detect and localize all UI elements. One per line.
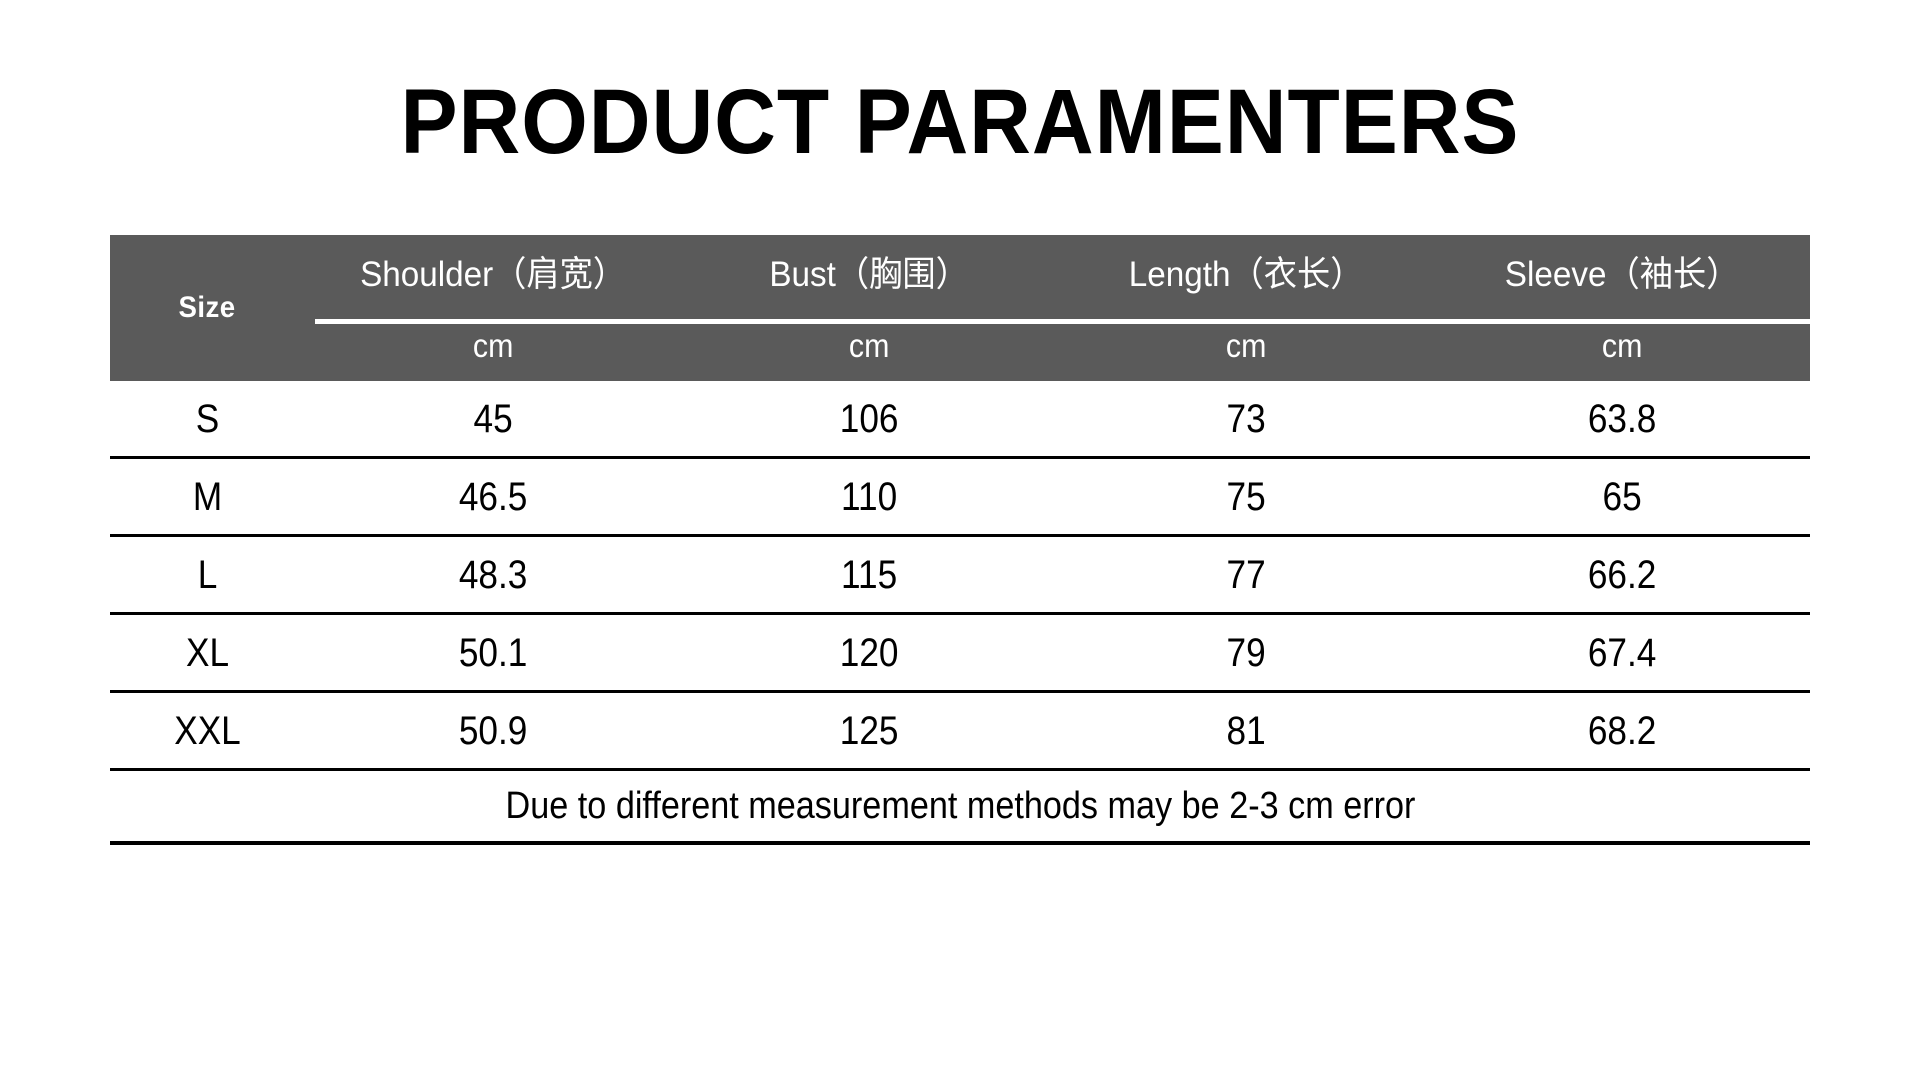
table-row: M 46.5 110 75 65 (110, 459, 1810, 537)
table-header-band: Size Shoulder（肩宽） cm Bust（胸围） cm Length（… (110, 235, 1810, 381)
cell-shoulder: 45 (328, 397, 659, 441)
header-label-shoulder: Shoulder（肩宽） (314, 235, 671, 319)
cell-sleeve: 63.8 (1456, 397, 1787, 441)
header-cell-size: Size (110, 235, 305, 381)
header-divider-rule (315, 319, 1810, 324)
cell-shoulder: 48.3 (328, 553, 659, 597)
header-label-sleeve: Sleeve（袖长） (1443, 235, 1800, 319)
cell-length: 79 (1080, 631, 1411, 675)
product-parameters-page: PRODUCT PARAMENTERS Size Shoulder（肩宽） cm… (0, 0, 1920, 1068)
size-header-label: Size (179, 291, 236, 325)
cell-bust: 125 (704, 709, 1035, 753)
cell-length: 81 (1080, 709, 1411, 753)
cell-shoulder: 50.9 (328, 709, 659, 753)
table-body: S 45 106 73 63.8 M 46.5 110 75 65 L 48.3… (110, 381, 1810, 845)
cell-length: 75 (1080, 475, 1411, 519)
table-row: XL 50.1 120 79 67.4 (110, 615, 1810, 693)
cell-bust: 110 (704, 475, 1035, 519)
header-cell-length: Length（衣长） cm (1058, 235, 1434, 381)
header-unit-shoulder: cm (320, 319, 666, 381)
cell-size: XL (122, 631, 294, 675)
cell-sleeve: 65 (1456, 475, 1787, 519)
cell-length: 73 (1080, 397, 1411, 441)
cell-bust: 115 (704, 553, 1035, 597)
header-cell-shoulder: Shoulder（肩宽） cm (305, 235, 681, 381)
cell-length: 77 (1080, 553, 1411, 597)
table-row: L 48.3 115 77 66.2 (110, 537, 1810, 615)
measurement-note-row: Due to different measurement methods may… (110, 771, 1810, 845)
header-label-bust: Bust（胸围） (691, 235, 1048, 319)
cell-shoulder: 50.1 (328, 631, 659, 675)
cell-size: S (122, 397, 294, 441)
header-unit-bust: cm (696, 319, 1042, 381)
cell-size: L (122, 553, 294, 597)
cell-size: M (122, 475, 294, 519)
cell-sleeve: 67.4 (1456, 631, 1787, 675)
header-unit-sleeve: cm (1449, 319, 1795, 381)
table-row: S 45 106 73 63.8 (110, 381, 1810, 459)
header-unit-length: cm (1073, 319, 1419, 381)
cell-size: XXL (122, 709, 294, 753)
measurement-note: Due to different measurement methods may… (505, 785, 1415, 827)
cell-bust: 120 (704, 631, 1035, 675)
cell-shoulder: 46.5 (328, 475, 659, 519)
size-chart-table: Size Shoulder（肩宽） cm Bust（胸围） cm Length（… (110, 235, 1810, 845)
header-cell-bust: Bust（胸围） cm (681, 235, 1057, 381)
cell-sleeve: 68.2 (1456, 709, 1787, 753)
page-title: PRODUCT PARAMENTERS (67, 72, 1853, 172)
table-row: XXL 50.9 125 81 68.2 (110, 693, 1810, 771)
header-label-length: Length（衣长） (1067, 235, 1424, 319)
cell-sleeve: 66.2 (1456, 553, 1787, 597)
header-cell-sleeve: Sleeve（袖长） cm (1434, 235, 1810, 381)
cell-bust: 106 (704, 397, 1035, 441)
